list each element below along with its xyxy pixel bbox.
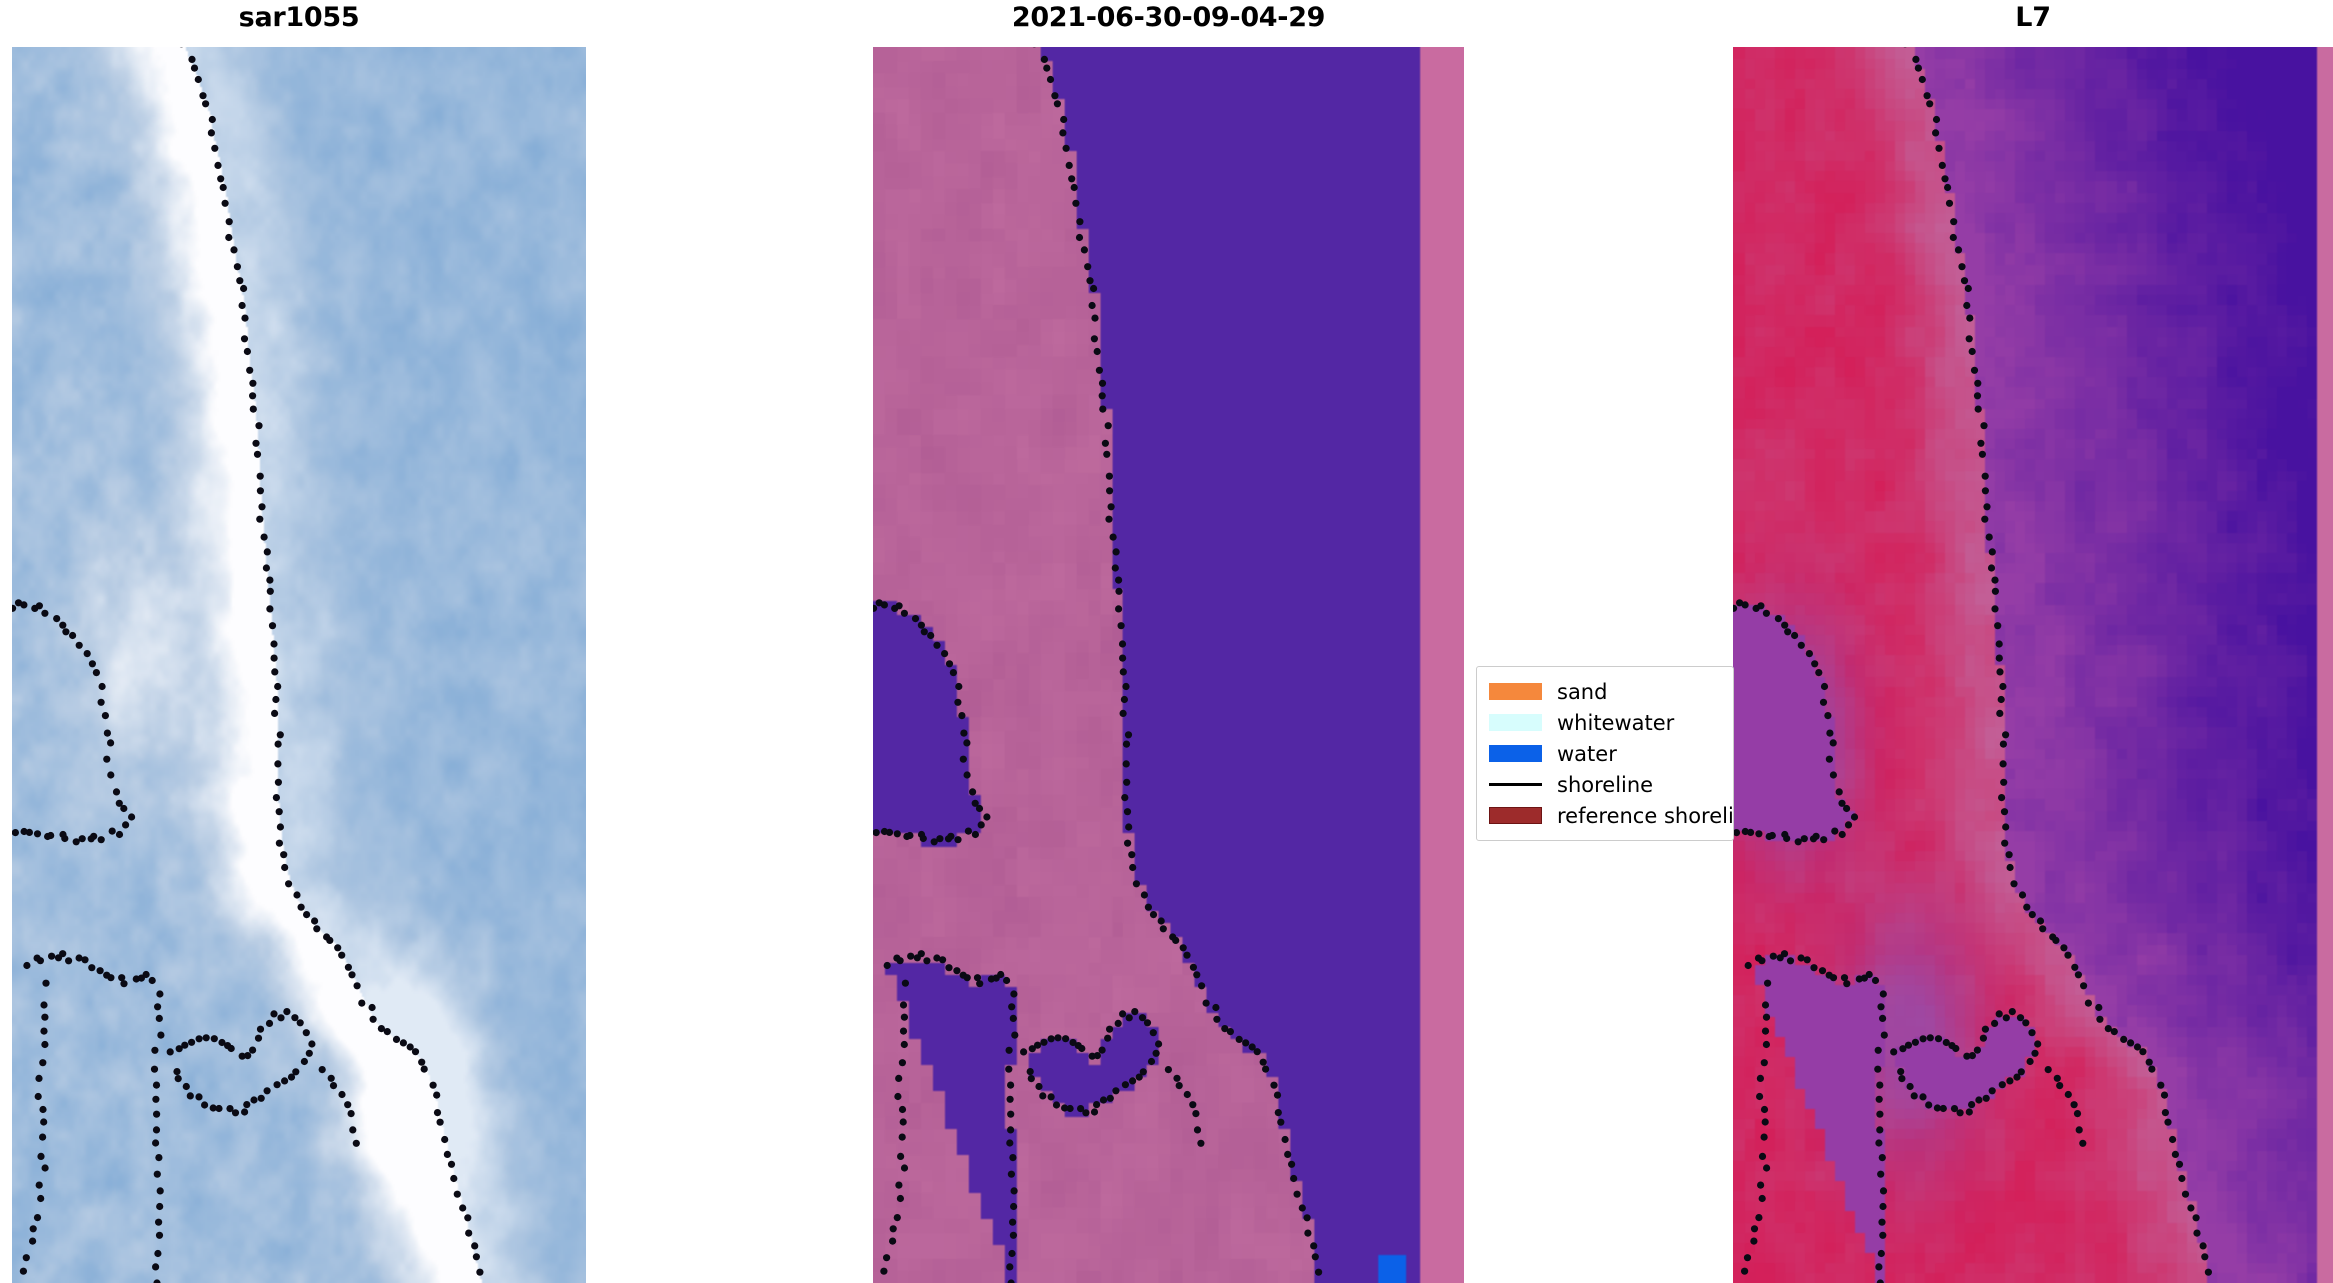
legend-swatch-shoreline — [1489, 783, 1551, 786]
legend-box: sand whitewater water shoreline referenc… — [1476, 666, 1734, 841]
legend-item-shoreline: shoreline — [1489, 769, 1723, 800]
panel-title-l7: L7 — [1733, 2, 2333, 33]
legend-item-reference-shoreline: reference shoreline — [1489, 800, 1723, 831]
legend-swatch-water — [1489, 745, 1551, 762]
legend-label-sand: sand — [1551, 680, 1607, 704]
shoreline-overlay-sar — [12, 47, 586, 1283]
shoreline-overlay-l7 — [1733, 47, 2333, 1283]
legend-swatch-sand — [1489, 683, 1551, 700]
panel-sar1055 — [12, 47, 586, 1283]
legend-label-whitewater: whitewater — [1551, 711, 1674, 735]
panel-title-classified: 2021-06-30-09-04-29 — [873, 2, 1464, 33]
figure-root: sar1055 2021-06-30-09-04-29 L7 sand whit… — [0, 0, 2333, 1283]
legend-swatch-whitewater — [1489, 714, 1551, 731]
legend-label-shoreline: shoreline — [1551, 773, 1653, 797]
shoreline-overlay-classified — [873, 47, 1464, 1283]
panel-classified — [873, 47, 1464, 1283]
legend-label-water: water — [1551, 742, 1617, 766]
legend-item-whitewater: whitewater — [1489, 707, 1723, 738]
legend-swatch-reference-shoreline — [1489, 807, 1551, 824]
legend-label-reference-shoreline: reference shoreline — [1551, 804, 1734, 828]
legend-item-sand: sand — [1489, 676, 1723, 707]
panel-l7 — [1733, 47, 2333, 1283]
legend-item-water: water — [1489, 738, 1723, 769]
panel-title-sar1055: sar1055 — [12, 2, 586, 33]
